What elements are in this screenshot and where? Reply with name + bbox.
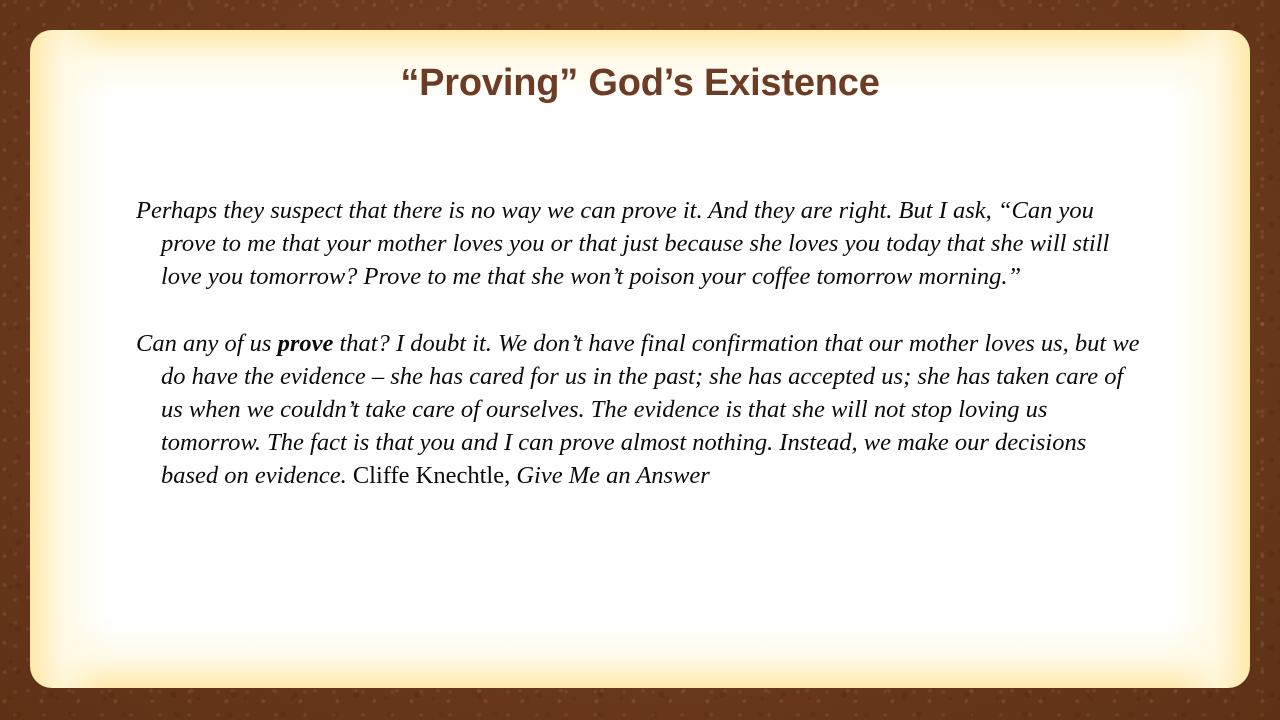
slide-body: Perhaps they suspect that there is no wa…	[136, 194, 1142, 493]
attribution-work-title: Give Me an Answer	[516, 462, 709, 489]
quote-paragraph-2: Can any of us prove that? I doubt it. We…	[136, 327, 1142, 493]
attribution-author: Cliffe Knechtle,	[353, 462, 517, 489]
page-title: “Proving” God’s Existence	[30, 62, 1250, 105]
emphasized-word-prove: prove	[278, 330, 334, 357]
paragraph-2-lead: Can any of us	[136, 330, 278, 357]
slide-content-card: “Proving” God’s Existence Perhaps they s…	[30, 30, 1250, 688]
quote-paragraph-1: Perhaps they suspect that there is no wa…	[136, 194, 1142, 294]
slide-stage: “Proving” God’s Existence Perhaps they s…	[0, 0, 1280, 720]
